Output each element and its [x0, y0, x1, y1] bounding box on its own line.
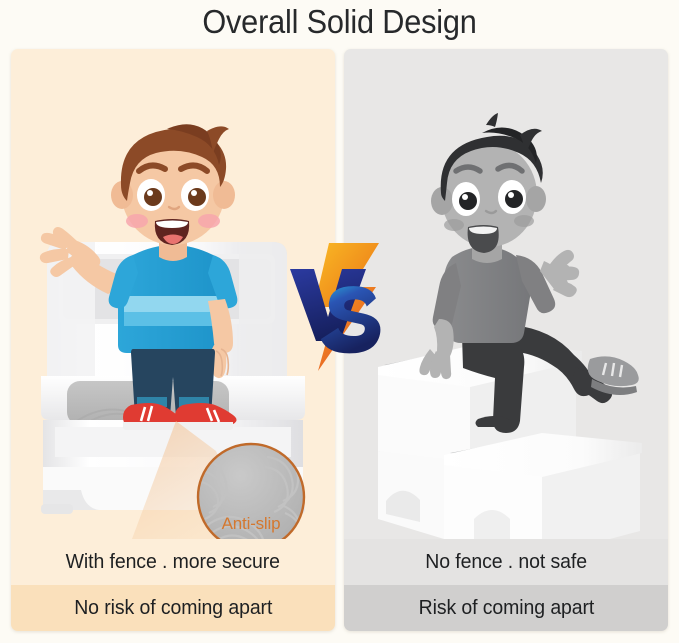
- right-caption-secondary: Risk of coming apart: [344, 585, 668, 631]
- with-fence-panel: Anti-slip With fence . more secure No ri…: [11, 49, 335, 631]
- comparison-infographic: Overall Solid Design: [0, 0, 679, 643]
- left-caption-secondary-text: No risk of coming apart: [74, 596, 272, 620]
- left-caption-primary: With fence . more secure: [11, 539, 335, 585]
- right-caption-secondary-text: Risk of coming apart: [418, 596, 594, 620]
- anti-slip-callout: Anti-slip: [195, 441, 307, 539]
- page-title: Overall Solid Design: [24, 0, 655, 46]
- right-captions: No fence . not safe Risk of coming apart: [344, 539, 668, 631]
- left-caption-secondary: No risk of coming apart: [11, 585, 335, 631]
- right-caption-primary-text: No fence . not safe: [425, 550, 587, 574]
- left-caption-primary-text: With fence . more secure: [66, 550, 280, 574]
- no-fence-panel: No fence . not safe Risk of coming apart: [344, 49, 668, 631]
- no-fence-illustration: [344, 49, 668, 539]
- left-captions: With fence . more secure No risk of comi…: [11, 539, 335, 631]
- right-caption-primary: No fence . not safe: [344, 539, 668, 585]
- right-illustration-stage: [344, 49, 668, 539]
- anti-slip-label: Anti-slip: [195, 514, 307, 534]
- left-illustration-stage: Anti-slip: [11, 49, 335, 539]
